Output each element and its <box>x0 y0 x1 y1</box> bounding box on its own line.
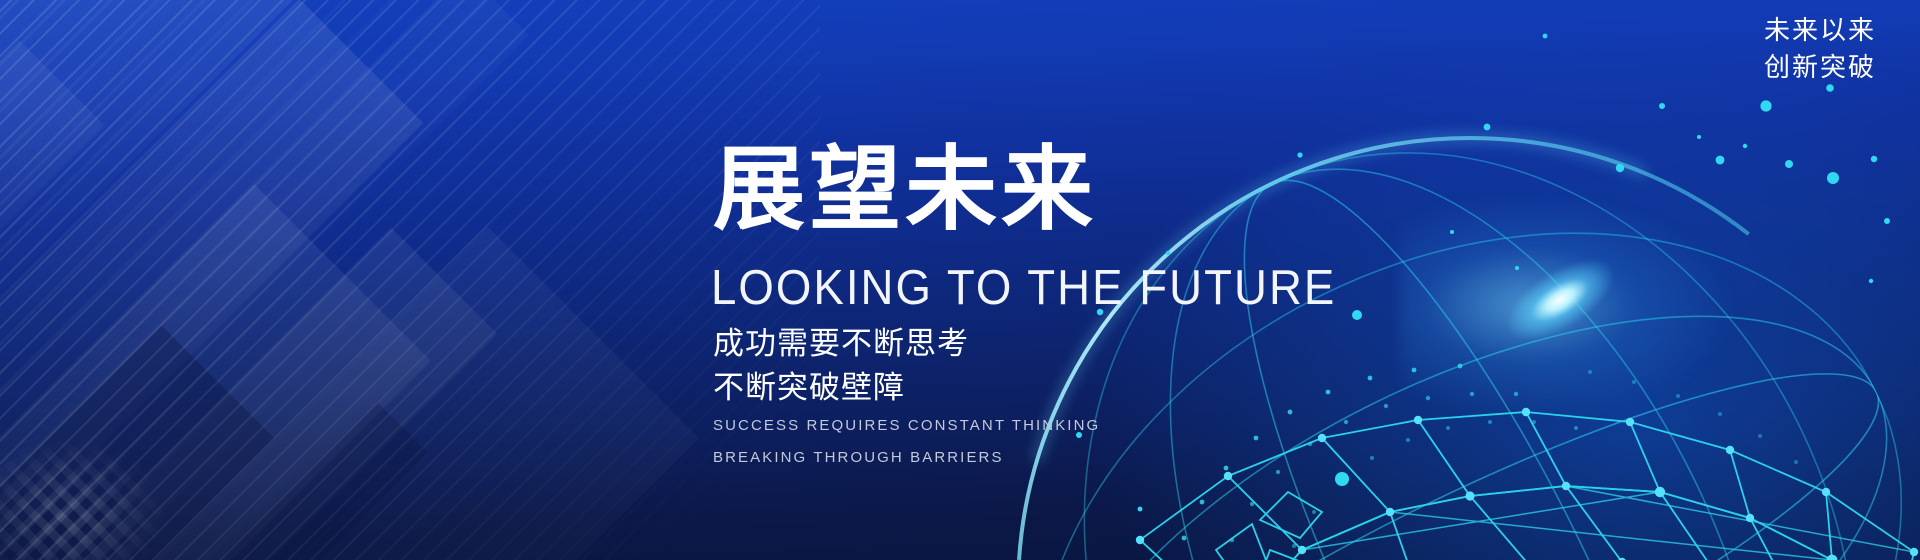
corner-tagline-line1: 未来以来 <box>1764 12 1876 49</box>
scatter-dot <box>1484 124 1491 131</box>
page-title-english: LOOKING TO THE FUTURE <box>711 264 1336 313</box>
scatter-dot <box>1785 160 1793 168</box>
scatter-dot <box>1743 144 1747 148</box>
subtitle-en-line2: BREAKING THROUGH BARRIERS <box>713 450 1004 465</box>
scatter-dot <box>1352 310 1362 320</box>
scatter-dot <box>1616 164 1624 172</box>
corner-tagline: 未来以来 创新突破 <box>1764 12 1876 86</box>
scatter-dot <box>1884 218 1890 224</box>
scatter-dot <box>1543 34 1548 39</box>
scatter-dot <box>1760 100 1771 111</box>
subtitle-cn-line1: 成功需要不断思考 <box>713 328 969 359</box>
corner-tagline-line2: 创新突破 <box>1764 49 1876 86</box>
scatter-dot <box>1515 266 1519 270</box>
scatter-dot <box>1697 135 1701 139</box>
subtitle-en-line1: SUCCESS REQUIRES CONSTANT THINKING <box>713 418 1100 433</box>
scatter-dot <box>1871 156 1877 162</box>
scatter-dot <box>1869 279 1873 283</box>
scatter-dot <box>1716 156 1725 165</box>
subtitle-cn-line2: 不断突破壁障 <box>713 372 905 403</box>
promo-banner: 未来以来 创新突破 展望未来 LOOKING TO THE FUTURE 成功需… <box>0 0 1920 560</box>
scatter-dot <box>1450 230 1454 234</box>
scatter-dot <box>1827 172 1839 184</box>
scatter-dot <box>1659 103 1665 109</box>
headline-block: 展望未来 LOOKING TO THE FUTURE 成功需要不断思考 不断突破… <box>713 0 1353 560</box>
page-title: 展望未来 <box>713 144 1097 236</box>
